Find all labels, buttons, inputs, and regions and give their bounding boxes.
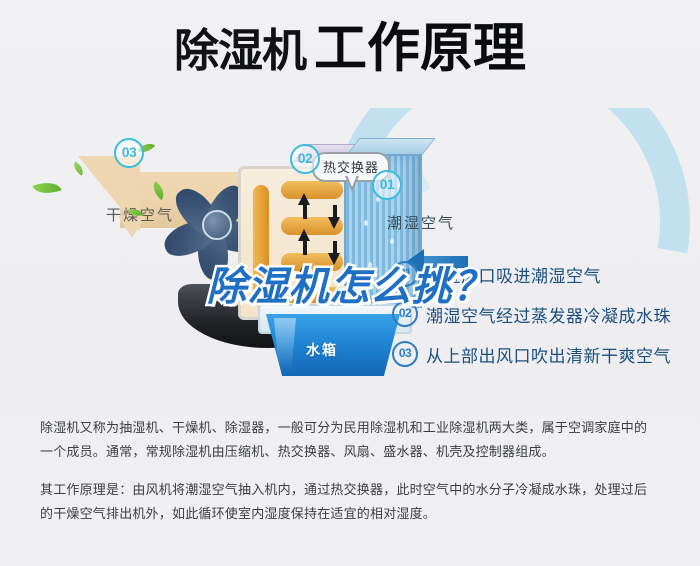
step-badge: 03 [392,341,418,367]
step-item: 03 从上部出风口吹出清新干爽空气 [392,342,682,366]
humid-air-label: 潮湿空气 [387,212,455,233]
page-title: 除湿机工作原理 [0,22,700,75]
refrigerant-pipe [281,181,343,199]
flow-arrow-up-icon [298,193,310,205]
flow-arrow-stem [303,203,307,219]
page-title-part2: 工作原理 [314,19,526,78]
overlay-headline: 除湿机怎么挑？ [0,267,700,307]
flow-arrow-down-icon [328,217,340,229]
infographic-page: 除湿机工作原理 干燥空气 [0,0,700,566]
water-tank-label: 水箱 [306,340,338,360]
fan-hub [202,210,232,240]
flow-arrow-up-icon [298,229,310,241]
heat-exchanger-callout-tail [345,176,359,192]
illustration-marker-01: 01 [372,170,402,200]
water-droplet-icon [390,238,394,244]
flow-arrow-stem [303,239,307,255]
step-text: 从上部出风口吹出清新干爽空气 [426,342,671,367]
flow-arrow-down-icon [328,253,340,265]
illustration-marker-02: 02 [290,144,320,174]
body-paragraph-2: 其工作原理是：由风机将潮湿空气抽入机内，通过热交换器，此时空气中的水分子冷凝成水… [40,478,660,526]
leaf-icon [32,177,61,199]
illustration-marker-03: 03 [114,138,144,168]
water-droplet-icon [364,220,368,226]
page-title-part1: 除湿机 [174,25,306,76]
body-paragraph-1: 除湿机又称为抽湿机、干燥机、除湿器，一般可分为民用除湿机和工业除湿机两大类，属于… [40,416,660,464]
